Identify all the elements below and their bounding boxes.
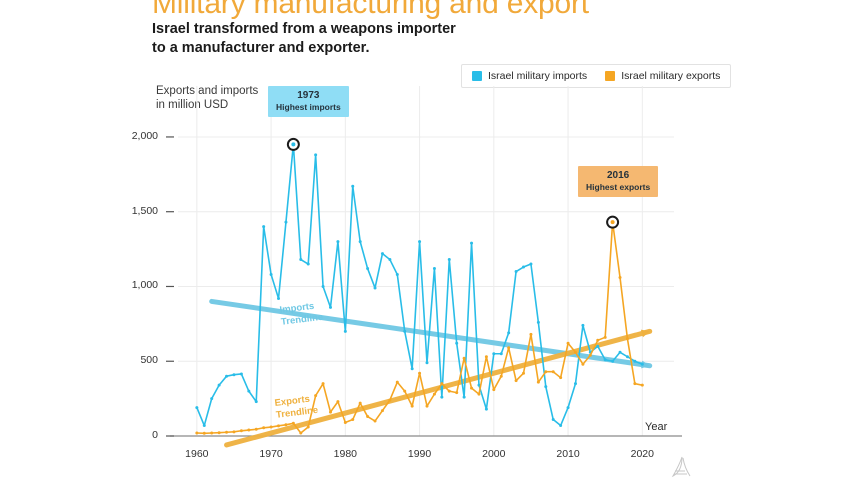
x-axis-tick-label: 1970 xyxy=(251,448,291,460)
annotation-note: Highest exports xyxy=(586,182,650,193)
y-axis-tick-label: 1,000 xyxy=(112,279,158,291)
y-axis-tick-label: 2,000 xyxy=(112,130,158,142)
annotation-note: Highest imports xyxy=(276,102,341,113)
x-axis-tick-label: 2000 xyxy=(474,448,514,460)
y-axis-tick-label: 0 xyxy=(112,429,158,441)
annotation-year: 1973 xyxy=(276,90,341,102)
annotation-year: 2016 xyxy=(586,170,650,182)
chart-page: Military manufacturing and export Israel… xyxy=(0,0,857,482)
y-axis-tick-label: 500 xyxy=(112,354,158,366)
x-axis-tick-label: 1990 xyxy=(400,448,440,460)
x-axis-tick-label: 1980 xyxy=(325,448,365,460)
y-axis-tick-label: 1,500 xyxy=(112,205,158,217)
x-axis-tick-label: 2020 xyxy=(622,448,662,460)
x-axis-tick-label: 1960 xyxy=(177,448,217,460)
chart-plot-area xyxy=(0,0,857,482)
annotation-highest-imports: 1973 Highest imports xyxy=(268,86,349,117)
x-axis-tick-label: 2010 xyxy=(548,448,588,460)
brand-logo-icon xyxy=(668,455,696,479)
annotation-highest-exports: 2016 Highest exports xyxy=(578,166,658,197)
